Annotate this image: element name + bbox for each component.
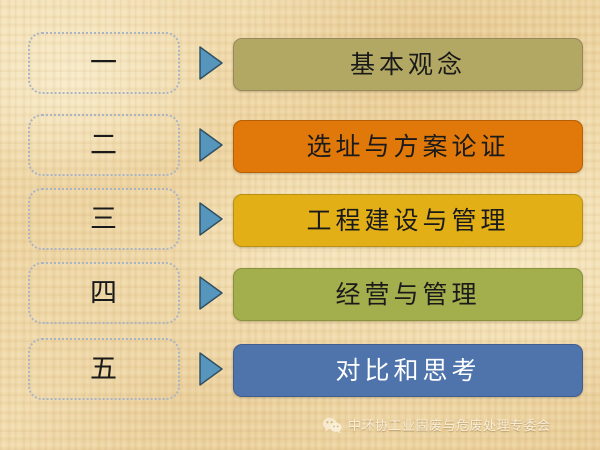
agenda-number-box-3[interactable]: 三 bbox=[28, 188, 180, 250]
agenda-bar-label: 工程建设与管理 bbox=[306, 208, 509, 233]
agenda-number-box-1[interactable]: 一 bbox=[28, 32, 180, 94]
agenda-number-box-5[interactable]: 五 bbox=[28, 338, 180, 400]
agenda-bar-label: 基本观念 bbox=[350, 52, 466, 77]
right-triangle-icon-2 bbox=[198, 127, 224, 163]
agenda-bar-label: 经营与管理 bbox=[335, 282, 480, 307]
right-triangle-icon-4 bbox=[198, 275, 224, 311]
agenda-number-label: 四 bbox=[90, 280, 118, 307]
right-triangle-icon-1 bbox=[198, 45, 224, 81]
right-triangle-icon-5 bbox=[198, 351, 224, 387]
agenda-bar-1[interactable]: 基本观念 bbox=[233, 38, 583, 91]
watermark: 中环协工业固废与危废处理专委会 bbox=[322, 415, 551, 434]
agenda-bar-4[interactable]: 经营与管理 bbox=[233, 268, 583, 321]
agenda-bar-2[interactable]: 选址与方案论证 bbox=[233, 120, 583, 173]
presentation-slide: 一 基本观念 二 选址与方案论证 三 工程建设与管理 四 bbox=[0, 0, 600, 450]
agenda-number-box-2[interactable]: 二 bbox=[28, 114, 180, 176]
agenda-bar-3[interactable]: 工程建设与管理 bbox=[233, 194, 583, 247]
watermark-text: 中环协工业固废与危废处理专委会 bbox=[348, 415, 551, 434]
agenda-bar-label: 选址与方案论证 bbox=[306, 134, 509, 159]
agenda-number-label: 三 bbox=[90, 206, 118, 233]
agenda-bar-label: 对比和思考 bbox=[335, 358, 480, 383]
agenda-number-label: 二 bbox=[90, 132, 118, 159]
agenda-number-label: 一 bbox=[90, 50, 118, 77]
wechat-icon bbox=[322, 416, 342, 434]
agenda-number-box-4[interactable]: 四 bbox=[28, 262, 180, 324]
agenda-bar-5[interactable]: 对比和思考 bbox=[233, 344, 583, 397]
agenda-number-label: 五 bbox=[90, 356, 118, 383]
right-triangle-icon-3 bbox=[198, 201, 224, 237]
